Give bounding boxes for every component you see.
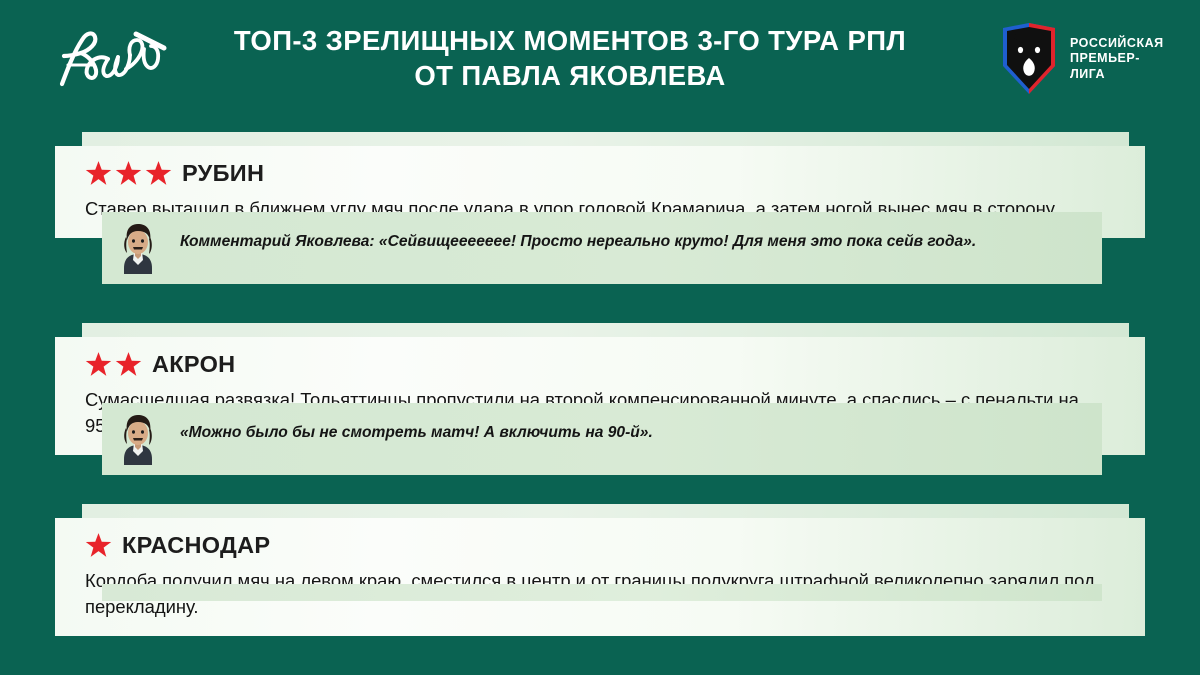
rpl-logo-text: РОССИЙСКАЯ ПРЕМЬЕР- ЛИГА: [1070, 36, 1164, 82]
star-icon: [115, 351, 142, 378]
avatar: [112, 220, 164, 274]
card-top-strip: [82, 504, 1129, 518]
rpl-league-logo: РОССИЙСКАЯ ПРЕМЬЕР- ЛИГА: [998, 18, 1174, 100]
futbol-brand-logo: [48, 22, 178, 94]
card-body: КРАСНОДАРКордоба получил мяч на левом кр…: [55, 518, 1145, 636]
club-name: АКРОН: [152, 353, 235, 377]
moments-list: РУБИНСтавер вытащил в ближнем углу мяч п…: [0, 118, 1200, 675]
star-icon: [85, 532, 112, 559]
star-rating: [85, 160, 172, 187]
star-icon: [85, 160, 112, 187]
bear-shield-icon: [998, 22, 1060, 96]
pavel-yakovlev-avatar: [112, 411, 164, 465]
card-bottom-strip: [102, 584, 1102, 601]
commentary-block: Комментарий Яковлева: «Сейвищееееееe! Пр…: [102, 212, 1102, 284]
avatar: [112, 411, 164, 465]
star-rating: [85, 532, 112, 559]
star-icon: [85, 351, 112, 378]
commentary-text: Комментарий Яковлева: «Сейвищееееееe! Пр…: [180, 220, 976, 254]
page-title-line-2: ОТ ПАВЛА ЯКОВЛЕВА: [190, 58, 950, 93]
page-title-line-1: ТОП-3 ЗРЕЛИЩНЫХ МОМЕНТОВ 3-ГО ТУРА РПЛ: [190, 23, 950, 58]
club-name: РУБИН: [182, 162, 264, 186]
pavel-yakovlev-avatar: [112, 220, 164, 274]
card-top-strip: [82, 323, 1129, 337]
star-icon: [145, 160, 172, 187]
commentary-block: «Можно было бы не смотреть матч! А включ…: [102, 403, 1102, 475]
club-name: КРАСНОДАР: [122, 534, 270, 558]
star-icon: [115, 160, 142, 187]
page-title: ТОП-3 ЗРЕЛИЩНЫХ МОМЕНТОВ 3-ГО ТУРА РПЛ О…: [190, 23, 950, 93]
club-header: АКРОН: [85, 351, 1115, 378]
club-header: РУБИН: [85, 160, 1115, 187]
club-header: КРАСНОДАР: [85, 532, 1115, 559]
card-top-strip: [82, 132, 1129, 146]
star-rating: [85, 351, 142, 378]
commentary-text: «Можно было бы не смотреть матч! А включ…: [180, 411, 653, 445]
page-header: ТОП-3 ЗРЕЛИЩНЫХ МОМЕНТОВ 3-ГО ТУРА РПЛ О…: [0, 0, 1200, 118]
